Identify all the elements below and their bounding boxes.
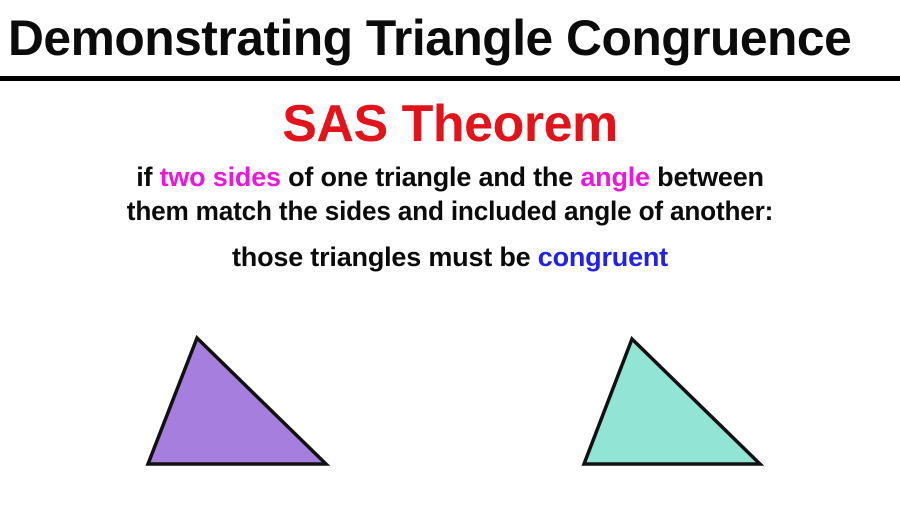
keyword-congruent: congruent bbox=[538, 242, 668, 272]
statement-line-3: those triangles must be congruent bbox=[0, 240, 900, 274]
theorem-statement: if two sides of one triangle and the ang… bbox=[0, 160, 900, 274]
keyword-angle: angle bbox=[580, 162, 650, 192]
statement-text-segment: of one triangle and the bbox=[281, 162, 581, 192]
page-title: Demonstrating Triangle Congruence bbox=[8, 12, 894, 64]
triangles-svg bbox=[0, 320, 900, 490]
statement-text-segment: if bbox=[136, 162, 159, 192]
title-divider-rule bbox=[0, 76, 900, 81]
keyword-two-sides: two sides bbox=[160, 162, 281, 192]
teal-triangle-shape bbox=[584, 339, 760, 464]
statement-text-segment: those triangles must be bbox=[232, 242, 538, 272]
statement-text-segment: between bbox=[650, 162, 764, 192]
statement-line-1: if two sides of one triangle and the ang… bbox=[0, 160, 900, 194]
purple-triangle-shape bbox=[148, 338, 326, 464]
title-banner: Demonstrating Triangle Congruence bbox=[0, 0, 900, 80]
triangle-figures bbox=[0, 320, 900, 490]
statement-line-2: them match the sides and included angle … bbox=[14, 194, 887, 228]
theorem-heading: SAS Theorem bbox=[0, 95, 900, 153]
